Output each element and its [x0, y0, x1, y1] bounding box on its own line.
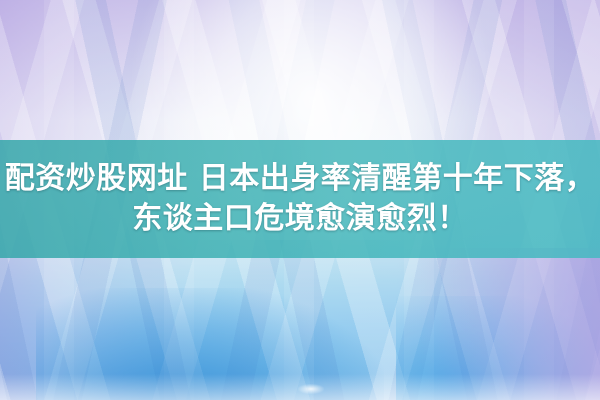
headline-banner: 配资炒股网址 日本出身率清醒第十年下落，东谈主口危境愈演愈烈！: [0, 0, 600, 400]
headline-band: 配资炒股网址 日本出身率清醒第十年下落，东谈主口危境愈演愈烈！: [0, 140, 600, 258]
page-title: 配资炒股网址 日本出身率清醒第十年下落，东谈主口危境愈演愈烈！: [4, 159, 596, 239]
